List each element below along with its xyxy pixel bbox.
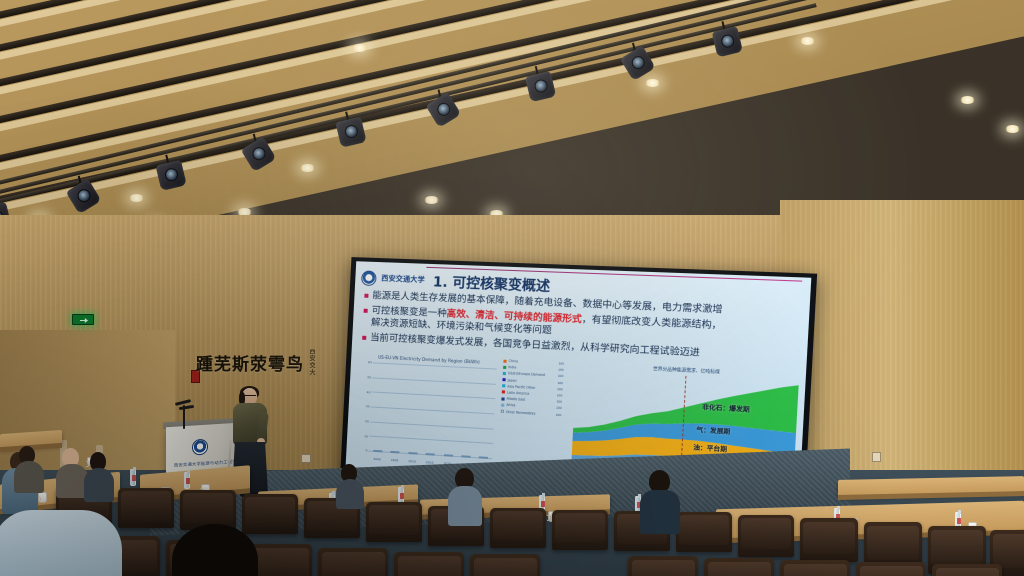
legend-value: 100 <box>558 361 564 365</box>
chart-y-tick: 60 <box>359 360 372 365</box>
legend-value: 100 <box>558 368 564 372</box>
chart-y-tick: 50 <box>358 375 371 380</box>
legend-swatch <box>503 359 506 362</box>
wall-calligraphy-seal: 西安交大 <box>308 349 314 375</box>
legend-label: Japan <box>508 378 517 383</box>
wall-calligraphy: 踵芜斯荥雩鸟 西安交大 <box>196 349 324 375</box>
water-bottle[interactable] <box>184 472 190 489</box>
chart-gridline <box>370 421 494 429</box>
university-logo-icon <box>361 270 377 286</box>
legend-label: Latin America <box>507 390 529 395</box>
audience-chair[interactable] <box>118 488 174 528</box>
chart-x-tick: 2000 <box>369 457 385 462</box>
right-table <box>838 476 1024 496</box>
person-body <box>448 486 482 526</box>
chart-bar <box>408 452 417 455</box>
water-bottle[interactable] <box>130 469 136 486</box>
chart-gridline <box>371 406 495 414</box>
wall-power-socket[interactable] <box>301 454 311 463</box>
ceiling-downlight <box>424 196 439 204</box>
ceiling-downlight <box>800 37 815 45</box>
audience-chair[interactable] <box>738 515 794 557</box>
audience-chair[interactable] <box>704 558 774 576</box>
chart-plot-area: 0102030405060200020052010201520202030204… <box>368 363 497 459</box>
chart-bar-segment <box>426 453 435 456</box>
lecture-hall-photo: 踵芜斯荥雩鸟 西安交大 西安交通大学 1. 可控核聚变概述 能源是人类生存发展的… <box>0 0 1024 576</box>
audience-chair[interactable] <box>490 508 546 548</box>
ceiling-downlight <box>960 96 975 104</box>
ceiling-downlight <box>300 164 315 172</box>
wall-power-socket[interactable] <box>872 452 881 462</box>
area-series-label: 油：平台期 <box>693 442 727 453</box>
chart-x-tick: 2005 <box>386 458 402 463</box>
chart-bar-segment <box>479 456 488 459</box>
audience-chair[interactable] <box>780 560 850 576</box>
legend-swatch <box>503 365 506 368</box>
chart-bar <box>373 450 382 453</box>
audience-member <box>448 468 482 518</box>
legend-swatch <box>502 391 505 394</box>
audience-chair[interactable] <box>856 562 926 576</box>
chart-bar <box>461 455 470 458</box>
legend-swatch <box>501 410 504 413</box>
chart-bar-segment <box>443 454 452 457</box>
ceiling-downlight <box>352 44 367 52</box>
chart-bar <box>426 453 435 456</box>
legend-value: 100 <box>556 406 562 410</box>
bullet-marker-icon <box>362 336 366 340</box>
chart-legend: China100India100US/EU/Europe Demand100Ja… <box>501 359 565 419</box>
chart-legend-item: Other Renewables100 <box>501 409 562 416</box>
legend-label: Other Renewables <box>506 409 536 415</box>
legend-swatch <box>502 384 505 387</box>
legend-label: US/EU/Europe Demand <box>508 372 545 378</box>
person-body <box>336 479 364 509</box>
audience-member <box>336 464 364 504</box>
chart-y-tick: 30 <box>357 404 370 409</box>
chart-electricity-demand: US-EU-VN Electricity Demand by Region (B… <box>354 354 500 471</box>
person-body <box>0 510 122 576</box>
legend-value: 100 <box>557 387 563 391</box>
chart-bar-segment <box>373 450 382 453</box>
audience-chair[interactable] <box>932 564 1002 576</box>
ceiling-downlight <box>129 194 144 202</box>
legend-value: 100 <box>556 399 562 403</box>
person-body <box>640 490 680 534</box>
legend-label: Middle East <box>507 397 526 402</box>
audience-member-foreground <box>0 500 122 576</box>
chart-x-tick: 2010 <box>404 459 420 464</box>
person-body <box>84 468 114 502</box>
chart-y-tick: 40 <box>357 389 370 394</box>
audience-chair[interactable] <box>676 512 732 552</box>
presenter-glasses <box>243 395 256 398</box>
audience-chair[interactable] <box>394 552 464 576</box>
area-series-label: 气：发展期 <box>696 425 730 436</box>
audience-chair[interactable] <box>470 554 540 576</box>
chart-bar-segment <box>461 455 470 458</box>
legend-swatch <box>502 378 505 381</box>
university-name: 西安交通大学 <box>381 273 425 285</box>
person-body <box>14 461 44 493</box>
wall-calligraphy-text: 踵芜斯荥雩鸟 <box>196 350 304 375</box>
chart-bar <box>479 456 488 459</box>
legend-value: 100 <box>558 374 564 378</box>
ceiling-downlight <box>645 79 660 87</box>
chart-gridline <box>372 377 496 384</box>
chart-y-tick: 10 <box>355 433 368 438</box>
audience-member <box>14 446 44 488</box>
ceiling-downlight <box>1005 125 1020 133</box>
legend-value: 100 <box>556 412 562 416</box>
person-head <box>172 524 258 576</box>
chart-y-tick: 0 <box>354 448 367 453</box>
slide-title: 1. 可控核聚变概述 <box>432 270 550 295</box>
legend-value: 100 <box>557 380 563 384</box>
legend-label: China <box>509 359 518 364</box>
legend-label: India <box>508 365 516 369</box>
podium-logo-icon <box>192 439 208 456</box>
bullet-marker-icon <box>364 294 368 298</box>
chart-gridline <box>369 436 493 444</box>
legend-value: 100 <box>557 393 563 397</box>
audience-chair[interactable] <box>800 518 858 562</box>
exit-sign <box>72 314 94 325</box>
legend-label: Asia Pacific Other <box>507 384 535 390</box>
chart-y-tick: 20 <box>356 419 369 424</box>
audience-chair[interactable] <box>552 510 608 550</box>
audience-chair[interactable] <box>366 502 422 542</box>
legend-swatch <box>503 372 506 375</box>
chart-bar <box>443 454 452 457</box>
legend-label: Africa <box>506 403 515 408</box>
chart-gridline <box>371 392 495 400</box>
audience-member <box>640 470 680 526</box>
audience-chair[interactable] <box>318 548 388 576</box>
legend-swatch <box>501 397 504 400</box>
legend-swatch <box>501 403 504 406</box>
chart-bar-segment <box>408 452 417 455</box>
chart-bar <box>391 451 400 454</box>
audience-chair[interactable] <box>628 556 698 576</box>
bullet-marker-icon <box>364 309 368 313</box>
audience-member <box>84 452 114 496</box>
audience-member-foreground <box>150 524 280 576</box>
chart-bar-segment <box>391 451 400 454</box>
